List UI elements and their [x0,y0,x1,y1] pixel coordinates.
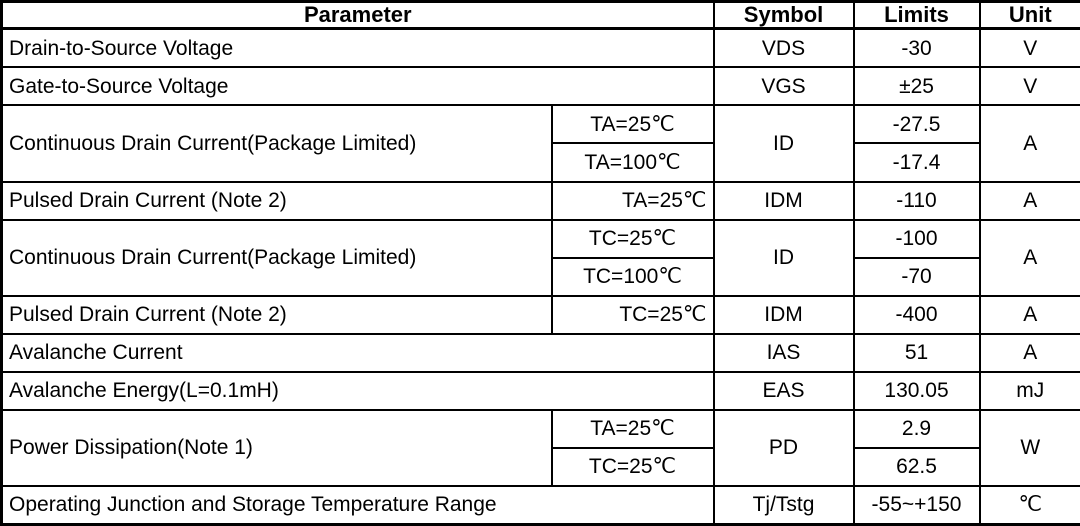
row-limit: 130.05 [854,372,980,410]
row-parameter: Power Dissipation(Note 1) [2,410,552,486]
row-symbol: VGS [714,67,854,105]
row-parameter: Continuous Drain Current(Package Limited… [2,105,552,181]
row-unit: A [980,220,1080,296]
absolute-maximum-ratings-table-container: Parameter Symbol Limits Unit Drain-to-So… [0,0,1080,526]
row-unit: V [980,67,1080,105]
table-row: Power Dissipation(Note 1) TA=25℃ PD 2.9 … [2,410,1080,448]
row-parameter: Avalanche Current [2,334,714,372]
row-symbol: VDS [714,29,854,68]
column-header-limits: Limits [854,2,980,29]
row-limit: ±25 [854,67,980,105]
row-condition: TA=25℃ [552,105,714,143]
row-limit: -55~+150 [854,486,980,525]
row-limit: -110 [854,182,980,220]
row-limit: -30 [854,29,980,68]
table-row: Pulsed Drain Current (Note 2) TA=25℃ IDM… [2,182,1080,220]
row-limit: -27.5 [854,105,980,143]
row-limit: -400 [854,296,980,334]
table-row: Avalanche Current IAS 51 A [2,334,1080,372]
row-unit: W [980,410,1080,486]
table-row: Continuous Drain Current(Package Limited… [2,220,1080,258]
row-symbol: IAS [714,334,854,372]
row-symbol: Tj/Tstg [714,486,854,525]
row-limit: 51 [854,334,980,372]
row-parameter: Gate-to-Source Voltage [2,67,714,105]
row-condition: TA=25℃ [552,182,714,220]
row-parameter: Pulsed Drain Current (Note 2) [2,296,552,334]
row-parameter: Pulsed Drain Current (Note 2) [2,182,552,220]
row-condition: TA=25℃ [552,410,714,448]
row-symbol: EAS [714,372,854,410]
table-row: Drain-to-Source Voltage VDS -30 V [2,29,1080,68]
row-unit: A [980,105,1080,181]
row-condition: TC=25℃ [552,448,714,486]
row-unit: A [980,182,1080,220]
row-symbol: IDM [714,182,854,220]
row-condition: TA=100℃ [552,143,714,181]
row-symbol: ID [714,220,854,296]
row-limit: -17.4 [854,143,980,181]
column-header-unit: Unit [980,2,1080,29]
row-unit: V [980,29,1080,68]
row-parameter: Drain-to-Source Voltage [2,29,714,68]
row-condition: TC=100℃ [552,258,714,296]
row-symbol: ID [714,105,854,181]
header-row: Parameter Symbol Limits Unit [2,2,1080,29]
row-parameter: Avalanche Energy(L=0.1mH) [2,372,714,410]
row-parameter: Continuous Drain Current(Package Limited… [2,220,552,296]
row-symbol: PD [714,410,854,486]
row-unit: A [980,296,1080,334]
table-row: Gate-to-Source Voltage VGS ±25 V [2,67,1080,105]
table-row: Continuous Drain Current(Package Limited… [2,105,1080,143]
row-unit: ℃ [980,486,1080,525]
column-header-symbol: Symbol [714,2,854,29]
row-parameter: Operating Junction and Storage Temperatu… [2,486,714,525]
table-row: Operating Junction and Storage Temperatu… [2,486,1080,525]
row-condition: TC=25℃ [552,296,714,334]
row-limit: 62.5 [854,448,980,486]
row-symbol: IDM [714,296,854,334]
absolute-maximum-ratings-table: Parameter Symbol Limits Unit Drain-to-So… [0,0,1080,526]
column-header-parameter: Parameter [2,2,714,29]
table-row: Avalanche Energy(L=0.1mH) EAS 130.05 mJ [2,372,1080,410]
row-unit: A [980,334,1080,372]
table-header: Parameter Symbol Limits Unit [2,2,1080,29]
row-condition: TC=25℃ [552,220,714,258]
table-body: Drain-to-Source Voltage VDS -30 V Gate-t… [2,29,1080,525]
row-limit: -100 [854,220,980,258]
table-row: Pulsed Drain Current (Note 2) TC=25℃ IDM… [2,296,1080,334]
row-unit: mJ [980,372,1080,410]
row-limit: -70 [854,258,980,296]
row-limit: 2.9 [854,410,980,448]
